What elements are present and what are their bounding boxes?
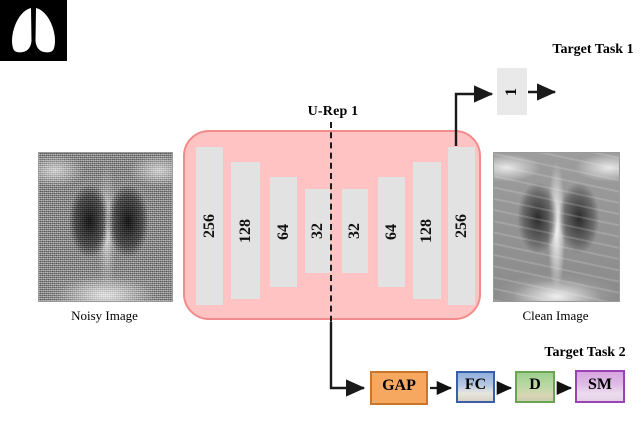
conv-block-enc-32: 32 <box>305 189 330 273</box>
gap-box: GAP <box>370 371 428 405</box>
d-label: D <box>529 376 541 394</box>
task1-head-box: 1 <box>497 68 527 115</box>
noisy-image <box>38 152 173 302</box>
conv-block-label: 128 <box>237 219 255 243</box>
conv-block-label: 32 <box>309 223 327 239</box>
lung-mask-svg <box>0 0 67 61</box>
target-task-1-label: Target Task 1 <box>538 42 644 58</box>
conv-block-label: 64 <box>275 224 293 240</box>
conv-block-label: 64 <box>383 224 401 240</box>
target-task-2-label: Target Task 2 <box>530 345 640 361</box>
conv-block-dec-128: 128 <box>413 162 441 299</box>
task1-head-label: 1 <box>503 88 521 96</box>
d-box: D <box>515 371 555 403</box>
urep-title: U-Rep 1 <box>258 104 408 120</box>
conv-block-label: 128 <box>418 219 436 243</box>
sm-box: SM <box>575 370 625 403</box>
gap-label: GAP <box>382 377 416 395</box>
noisy-image-caption: Noisy Image <box>38 308 171 324</box>
bottleneck-split-line <box>330 122 332 332</box>
conv-block-enc-128: 128 <box>231 162 260 299</box>
conv-block-dec-256: 256 <box>448 147 475 305</box>
conv-block-label: 256 <box>453 214 471 238</box>
rib-texture <box>494 153 619 301</box>
sm-label: SM <box>588 376 612 394</box>
conv-block-enc-64: 64 <box>270 177 297 287</box>
diagram-canvas: Noisy Image U-Rep 1 256 128 64 32 32 64 … <box>0 0 644 421</box>
arrow-bottleneck-to-gap <box>331 322 364 388</box>
urep-container: 256 128 64 32 32 64 128 256 <box>183 130 481 320</box>
conv-block-enc-256: 256 <box>196 147 223 305</box>
fc-box: FC <box>456 371 495 403</box>
lung-mask-image <box>0 0 67 61</box>
conv-block-label: 32 <box>346 223 364 239</box>
fc-label: FC <box>465 376 486 394</box>
clean-image <box>493 152 620 302</box>
conv-block-label: 256 <box>201 214 219 238</box>
clean-image-caption: Clean Image <box>493 308 618 324</box>
conv-block-dec-64: 64 <box>378 177 405 287</box>
noise-texture <box>39 153 172 301</box>
conv-block-dec-32: 32 <box>342 189 368 273</box>
